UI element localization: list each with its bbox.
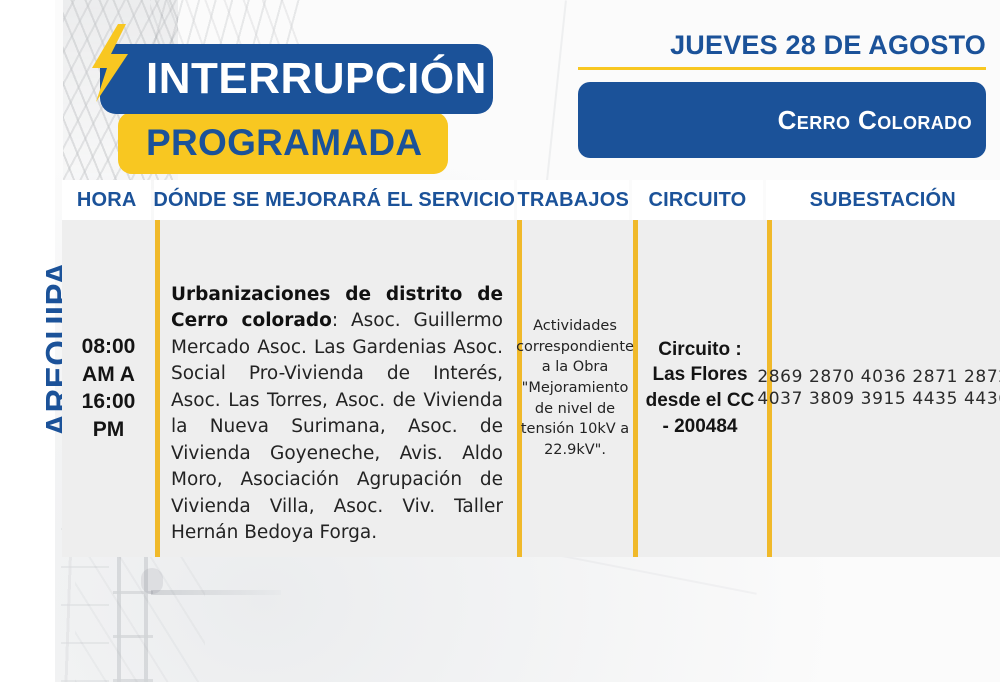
cell-circuito: Circuito : Las Flores desde el CC - 2004…	[633, 220, 767, 557]
banner-title-primary: INTERRUPCIÓN	[100, 44, 493, 114]
column-header-subestacion: SUBESTACIÓN	[766, 180, 1000, 220]
cell-donde: Urbanizaciones de distrito de Cerro colo…	[155, 220, 517, 557]
subestacion-line-2: 4037 3809 3915 4435 4436	[757, 388, 1000, 411]
tower-crossarm-watermark	[151, 590, 281, 595]
column-header-donde: DÓNDE SE MEJORARÁ EL SERVICIO	[154, 180, 514, 220]
subestacion-line-1: 2869 2870 4036 2871 2872	[757, 366, 1000, 389]
cell-trabajos: Actividades correspondiente a la Obra "M…	[517, 220, 633, 557]
table-row: 08:00 AM A 16:00 PM Urbanizaciones de di…	[62, 220, 1000, 557]
notice-banner: INTERRUPCIÓN PROGRAMADA	[88, 18, 493, 160]
column-header-trabajos: TRABAJOS	[517, 180, 629, 220]
district-badge: Cerro Colorado	[578, 82, 986, 158]
column-header-hora: HORA	[62, 180, 151, 220]
date-underline	[578, 67, 986, 70]
district-name: Cerro Colorado	[778, 105, 986, 136]
insulator-watermark	[141, 568, 163, 594]
notice-date: JUEVES 28 DE AGOSTO	[578, 30, 986, 61]
cell-hora: 08:00 AM A 16:00 PM	[62, 220, 155, 557]
banner-title-secondary-text: PROGRAMADA	[118, 122, 422, 164]
date-block: JUEVES 28 DE AGOSTO	[578, 30, 986, 70]
table-header-row: HORA DÓNDE SE MEJORARÁ EL SERVICIO TRABA…	[62, 180, 1000, 220]
banner-title-secondary: PROGRAMADA	[118, 112, 448, 174]
column-header-circuito: CIRCUITO	[632, 180, 762, 220]
cell-subestacion: 2869 2870 4036 2871 2872 4037 3809 3915 …	[767, 220, 1000, 557]
outage-table: HORA DÓNDE SE MEJORARÁ EL SERVICIO TRABA…	[62, 180, 1000, 557]
lightning-bolt-icon	[88, 24, 130, 102]
cell-donde-rest: : Asoc. Guillermo Mercado Asoc. Las Gard…	[171, 310, 503, 543]
notice-page: AREQUIPA INTERRUPCIÓN PROGRAMADA JUEVES …	[0, 0, 1000, 682]
banner-title-primary-text: INTERRUPCIÓN	[100, 54, 487, 104]
